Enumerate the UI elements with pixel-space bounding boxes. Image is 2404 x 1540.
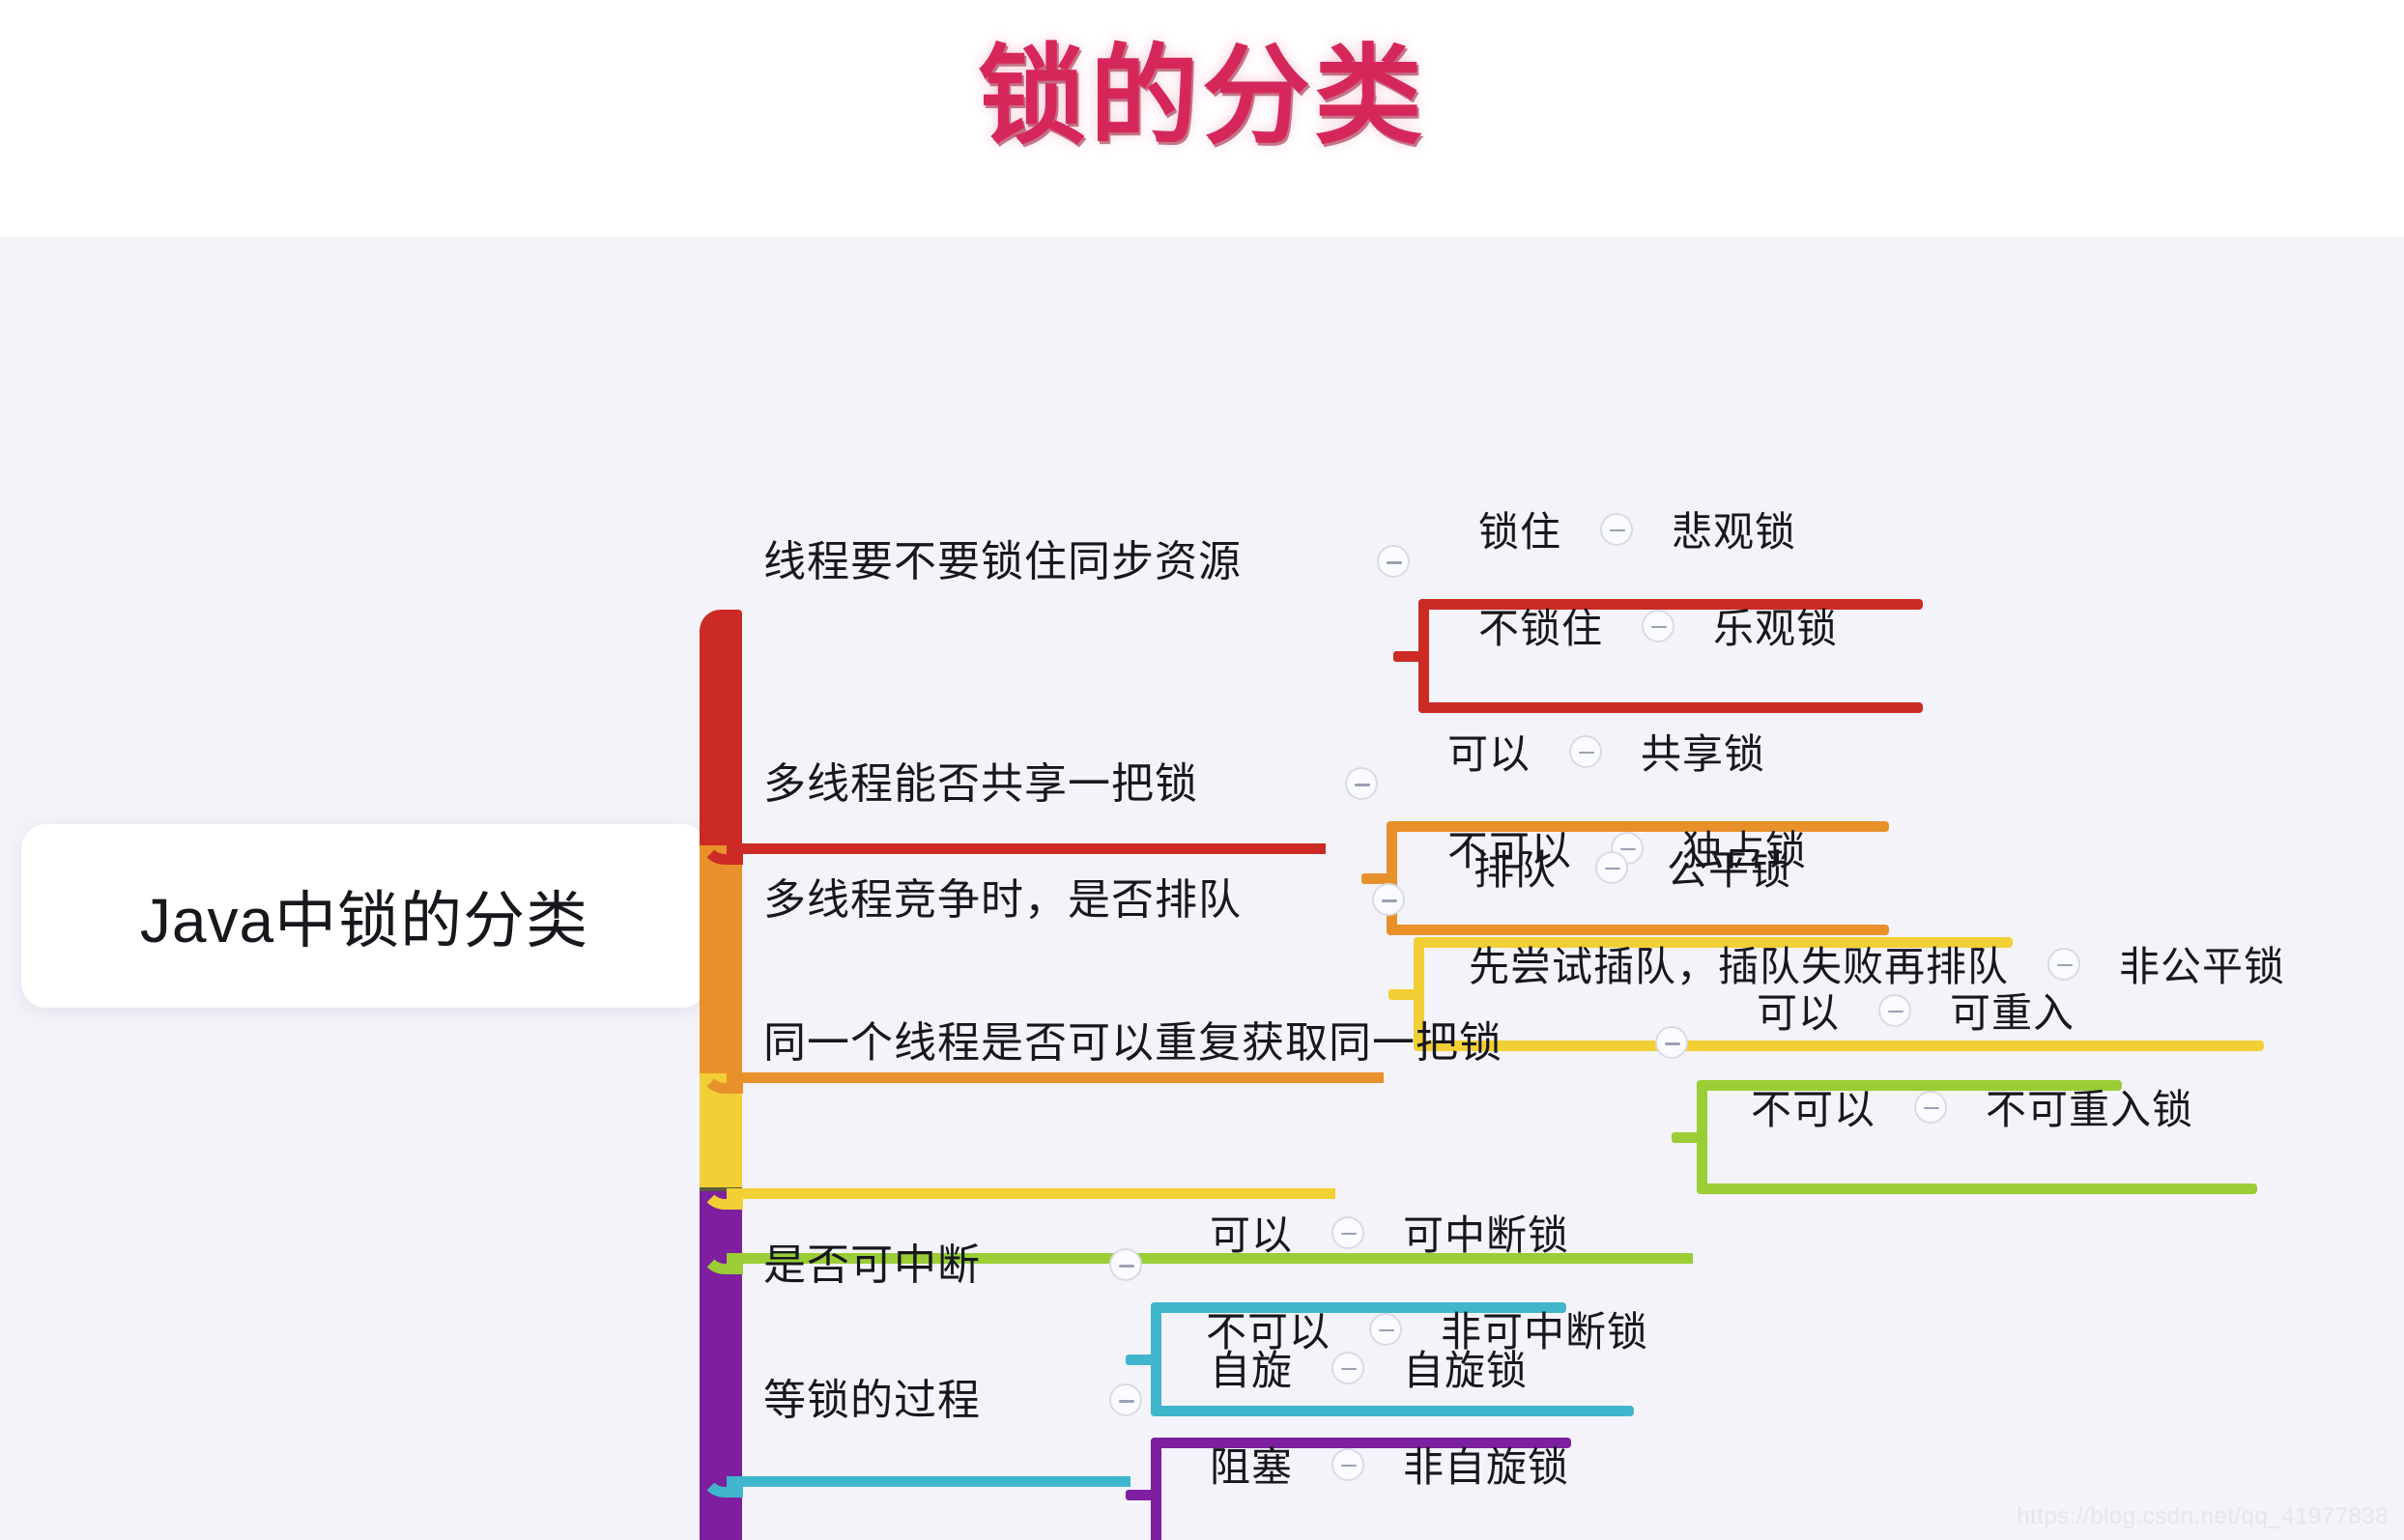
collapse-icon-leaf[interactable] <box>2047 948 2080 981</box>
bracket-bottom <box>1418 702 1923 713</box>
page-title: 锁的分类 <box>0 29 2404 164</box>
collapse-icon-reentrant-lock[interactable] <box>1655 1026 1688 1059</box>
leaf-row-interruptible[interactable]: 可以 可中断锁 <box>1210 1203 1569 1262</box>
bracket-vertical <box>1387 821 1397 935</box>
leaf-row-shared[interactable]: 可以 共享锁 <box>1447 722 1765 781</box>
collapse-icon-interruptible-lock[interactable] <box>1109 1248 1142 1281</box>
bracket-vertical <box>1151 1302 1161 1416</box>
branch-stem-share-lock <box>727 1072 1384 1083</box>
collapse-icon-queue-lock[interactable] <box>1372 883 1405 916</box>
bracket-vertical <box>1697 1080 1707 1194</box>
watermark: https://blog.csdn.net/qq_41977838 <box>2017 1503 2389 1530</box>
collapse-icon-leaf[interactable] <box>1600 513 1633 546</box>
branch-label-lock-resource-text: 线程要不要锁住同步资源 <box>763 527 1242 588</box>
mindmap-page: 锁的分类 Java中锁的分类 线程要不要锁住同步资源 锁住 悲观锁 <box>0 0 2404 1540</box>
leaf-row-nonreentrant[interactable]: 不可以 不可重入锁 <box>1751 1077 2193 1136</box>
trunk-segment-red <box>700 610 742 849</box>
collapse-icon-leaf[interactable] <box>1569 735 1602 768</box>
leaf-name: 悲观锁 <box>1672 499 1796 558</box>
collapse-icon-leaf[interactable] <box>1878 994 1911 1027</box>
leaf-row-nonspin[interactable]: 阻塞 非自旋锁 <box>1210 1435 1569 1494</box>
leaf-row-spin[interactable]: 自旋 自旋锁 <box>1210 1338 1528 1397</box>
branch-stem-lock-resource <box>727 843 1326 854</box>
leaf-condition: 不锁住 <box>1478 596 1603 655</box>
leaf-row-optimistic[interactable]: 不锁住 乐观锁 <box>1478 596 1838 655</box>
collapse-icon-wait-process-lock[interactable] <box>1109 1383 1142 1416</box>
leaf-name: 非自旋锁 <box>1403 1435 1569 1494</box>
leaf-name: 非公平锁 <box>2119 934 2285 993</box>
branch-stem-interruptible-lock <box>727 1476 1130 1487</box>
branch-stem-queue-lock <box>727 1188 1335 1199</box>
branch-label-share-lock: 多线程能否共享一把锁 <box>763 749 1198 811</box>
collapse-icon-share-lock[interactable] <box>1345 767 1378 800</box>
leaf-condition: 可以 <box>1447 722 1531 781</box>
leaf-condition: 排队 <box>1474 838 1557 897</box>
leaf-name: 可中断锁 <box>1403 1203 1569 1262</box>
leaf-row-fair[interactable]: 排队 公平锁 <box>1474 838 1791 897</box>
leaf-condition: 锁住 <box>1478 499 1561 558</box>
branch-label-reentrant-lock: 同一个线程是否可以重复获取同一把锁 <box>763 1008 1502 1069</box>
bracket-bottom <box>1414 1041 2264 1051</box>
collapse-icon-leaf[interactable] <box>1595 851 1628 884</box>
trunk-segment-orange <box>700 845 742 1077</box>
mindmap-canvas: Java中锁的分类 线程要不要锁住同步资源 锁住 悲观锁 不锁住 乐观锁 <box>0 237 2404 1540</box>
root-node-label: Java中锁的分类 <box>140 871 588 960</box>
leaf-condition: 自旋 <box>1210 1338 1293 1397</box>
leaf-name: 公平锁 <box>1667 838 1791 897</box>
leaf-condition: 不可以 <box>1751 1077 1875 1136</box>
bracket-vertical <box>1418 599 1429 713</box>
branch-label-queue-lock: 多线程竞争时，是否排队 <box>763 865 1242 927</box>
leaf-condition: 可以 <box>1210 1203 1293 1262</box>
branch-label-wait-process-lock: 等锁的过程 <box>763 1365 981 1427</box>
bracket-bottom <box>1151 1406 1634 1416</box>
bracket-bottom <box>1697 1184 2257 1194</box>
collapse-icon-lock-resource[interactable] <box>1377 545 1410 578</box>
leaf-condition: 阻塞 <box>1210 1435 1293 1494</box>
leaf-name: 乐观锁 <box>1713 596 1838 655</box>
leaf-row-pessimistic[interactable]: 锁住 悲观锁 <box>1478 499 1796 558</box>
leaf-row-reentrant[interactable]: 可以 可重入 <box>1757 981 2075 1040</box>
leaf-name: 不可重入锁 <box>1986 1077 2193 1136</box>
branch-label-interruptible-lock: 是否可中断 <box>763 1230 981 1292</box>
collapse-icon-leaf[interactable] <box>1914 1091 1947 1124</box>
root-node[interactable]: Java中锁的分类 <box>21 824 707 1008</box>
leaf-condition: 可以 <box>1757 981 1840 1040</box>
collapse-icon-leaf[interactable] <box>1642 610 1674 642</box>
bracket-vertical <box>1151 1438 1161 1540</box>
leaf-name: 可重入 <box>1950 981 2075 1040</box>
leaf-name: 共享锁 <box>1641 722 1765 781</box>
leaf-name: 自旋锁 <box>1403 1338 1528 1397</box>
collapse-icon-leaf[interactable] <box>1331 1448 1364 1481</box>
collapse-icon-leaf[interactable] <box>1331 1352 1364 1384</box>
collapse-icon-leaf[interactable] <box>1331 1216 1364 1249</box>
